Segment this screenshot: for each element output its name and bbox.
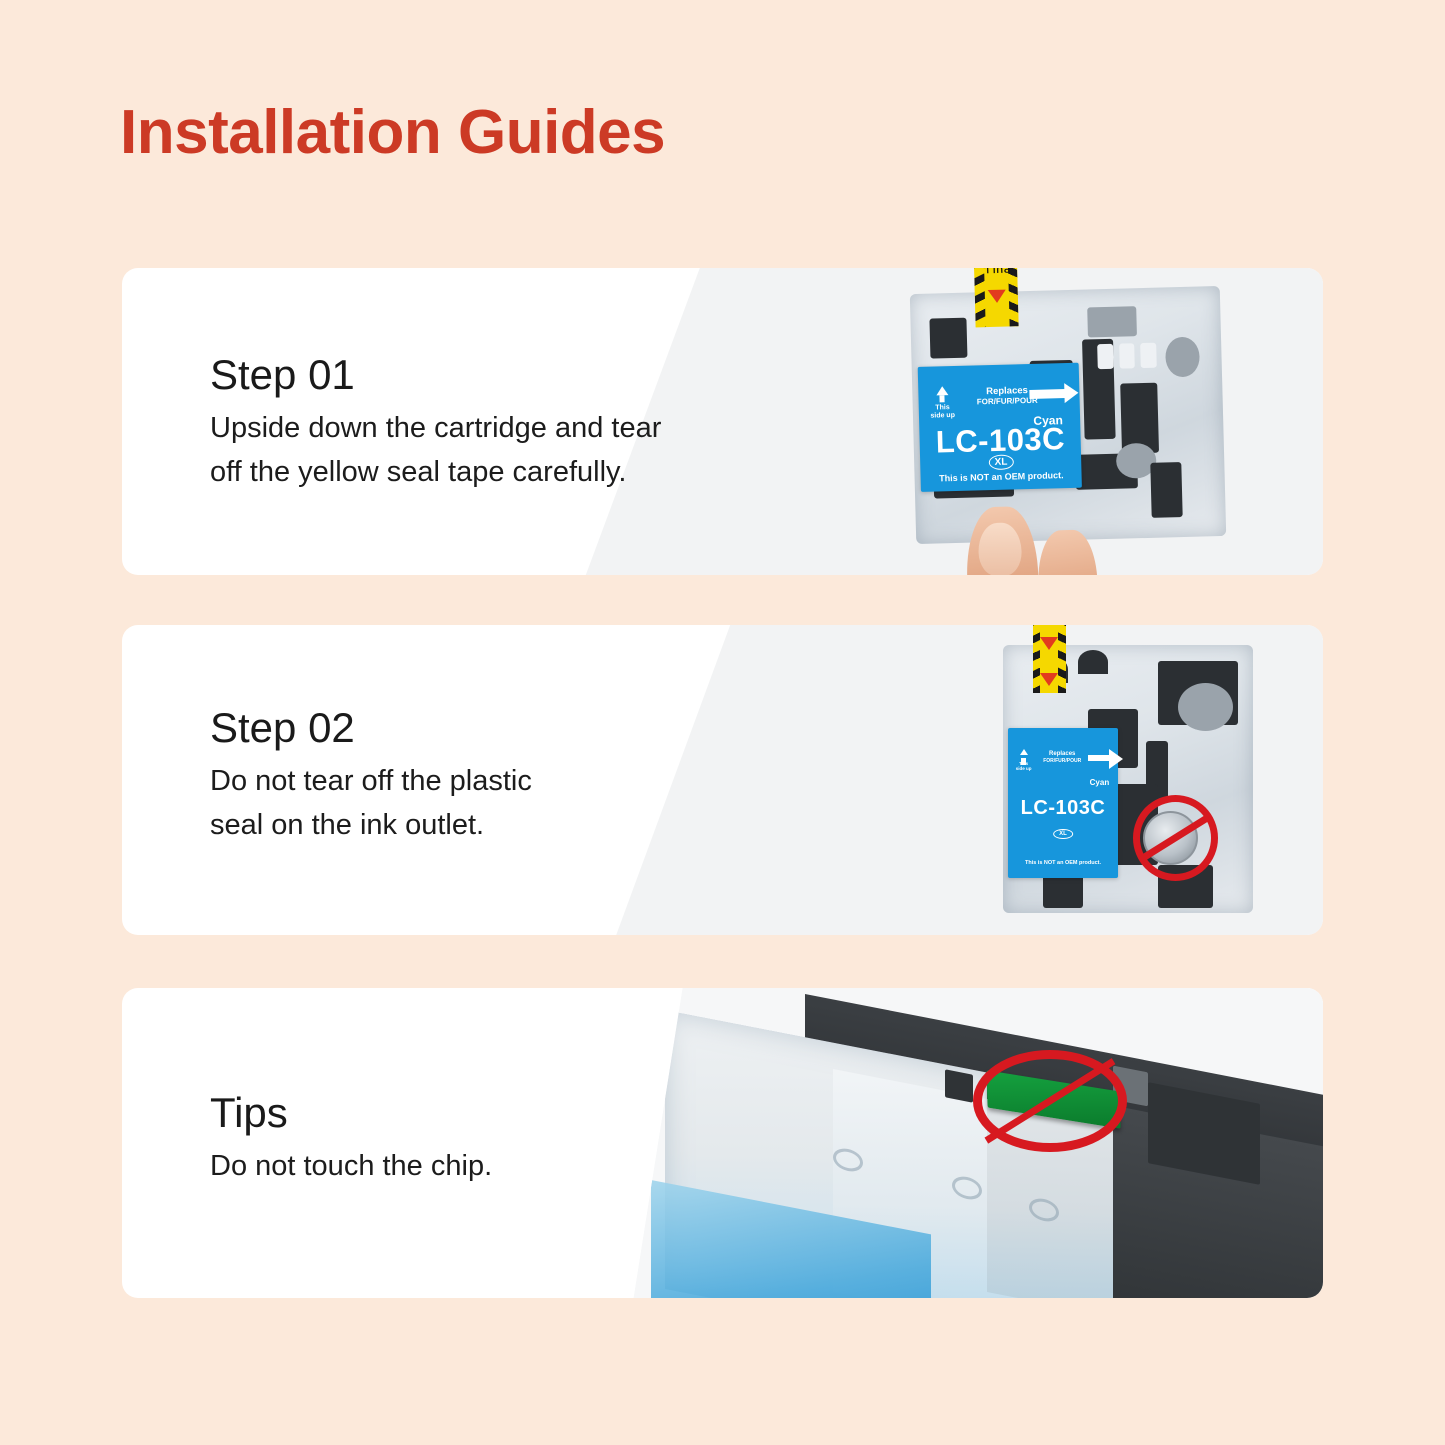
step-01-heading: Step 01 (210, 350, 710, 400)
label-oem-disclaimer: This is NOT an OEM product. (1025, 860, 1101, 866)
label-side-up-line-2: side up (1016, 766, 1032, 771)
step-02-heading: Step 02 (210, 703, 710, 753)
cartridge-product-label: This side up Replaces FOR/FUR/POUR Cyan … (918, 362, 1082, 491)
label-this-side-up: This side up (1016, 749, 1032, 771)
step-card-tips: Tips Do not touch the chip. (122, 988, 1323, 1298)
cartridge-closeup-scene (623, 988, 1323, 1298)
cartridge-detail (1097, 344, 1113, 369)
yellow-pull-tab: PULL PULL (972, 268, 1019, 327)
fingernail (978, 522, 1022, 575)
step-01-description-line-1: Upside down the cartridge and tear (210, 406, 710, 450)
pull-tab-stripe-left (1033, 625, 1040, 693)
tips-description: Do not touch the chip. (210, 1144, 710, 1188)
tips-description-line-1: Do not touch the chip. (210, 1144, 710, 1188)
step-01-photo: PULL PULL This side up Replaces FOR/FUR/… (763, 268, 1323, 575)
cartridge-port (1178, 683, 1233, 731)
right-arrow-icon (1029, 389, 1065, 399)
step-02-photo: This side up Replaces FOR/FUR/POUR Cyan … (763, 625, 1323, 935)
prohibition-sign-icon (1133, 795, 1218, 881)
pull-arrow-icon (1040, 637, 1058, 650)
step-02-description: Do not tear off the plastic seal on the … (210, 759, 710, 847)
cartridge-product-label: This side up Replaces FOR/FUR/POUR Cyan … (1008, 728, 1118, 878)
step-01-description-line-2: off the yellow seal tape carefully. (210, 450, 710, 494)
label-model-number: LC-103C (1021, 797, 1106, 820)
label-replaces-title: Replaces (1043, 751, 1081, 758)
step-01-text-block: Step 01 Upside down the cartridge and te… (210, 350, 710, 494)
tips-text-block: Tips Do not touch the chip. (210, 1088, 710, 1188)
ink-cartridge-illustration: PULL PULL This side up Replaces FOR/FUR/… (910, 286, 1226, 544)
step-card-step-01: Step 01 Upside down the cartridge and te… (122, 268, 1323, 575)
label-size-badge: XL (988, 454, 1013, 470)
cartridge-detail (1087, 306, 1137, 337)
cartridge-notch (945, 1069, 973, 1102)
yellow-pull-tab (1033, 625, 1066, 693)
cartridge-detail (1078, 650, 1108, 674)
tips-heading: Tips (210, 1088, 710, 1138)
tips-photo (623, 988, 1323, 1298)
page-title: Installation Guides (120, 102, 665, 164)
pull-tab-stripe-right (1006, 268, 1020, 326)
pull-tab-stripe-right (1058, 625, 1065, 693)
cartridge-detail (1141, 343, 1157, 368)
step-02-description-line-2: seal on the ink outlet. (210, 803, 710, 847)
step-02-description-line-1: Do not tear off the plastic (210, 759, 710, 803)
label-this-side-up: This side up (930, 385, 955, 420)
label-replaces: Replaces FOR/FUR/POUR (1043, 751, 1081, 764)
label-replaces-sub: FOR/FUR/POUR (1043, 758, 1081, 764)
step-card-step-02: Step 02 Do not tear off the plastic seal… (122, 625, 1323, 935)
prohibition-sign-icon (973, 1050, 1127, 1152)
pull-arrow-icon (1040, 673, 1058, 686)
label-oem-disclaimer: This is NOT an OEM product. (939, 470, 1064, 483)
label-size-badge: XL (1053, 829, 1073, 839)
label-side-up-line-2: side up (930, 412, 955, 421)
right-arrow-icon (1088, 755, 1110, 761)
pull-tab-label: PULL (982, 268, 1010, 275)
cartridge-detail (1119, 343, 1135, 368)
installation-guide-page: Installation Guides Step 01 Upside down … (0, 0, 1445, 1445)
step-01-description: Upside down the cartridge and tear off t… (210, 406, 710, 494)
ink-cartridge-illustration: This side up Replaces FOR/FUR/POUR Cyan … (1003, 645, 1253, 913)
step-02-text-block: Step 02 Do not tear off the plastic seal… (210, 703, 710, 847)
up-arrow-icon (936, 386, 948, 395)
cartridge-detail (1150, 462, 1182, 518)
up-arrow-icon (1020, 749, 1028, 755)
cartridge-detail (929, 318, 967, 359)
label-color-name: Cyan (1090, 778, 1110, 787)
pull-arrow-icon (987, 289, 1005, 302)
